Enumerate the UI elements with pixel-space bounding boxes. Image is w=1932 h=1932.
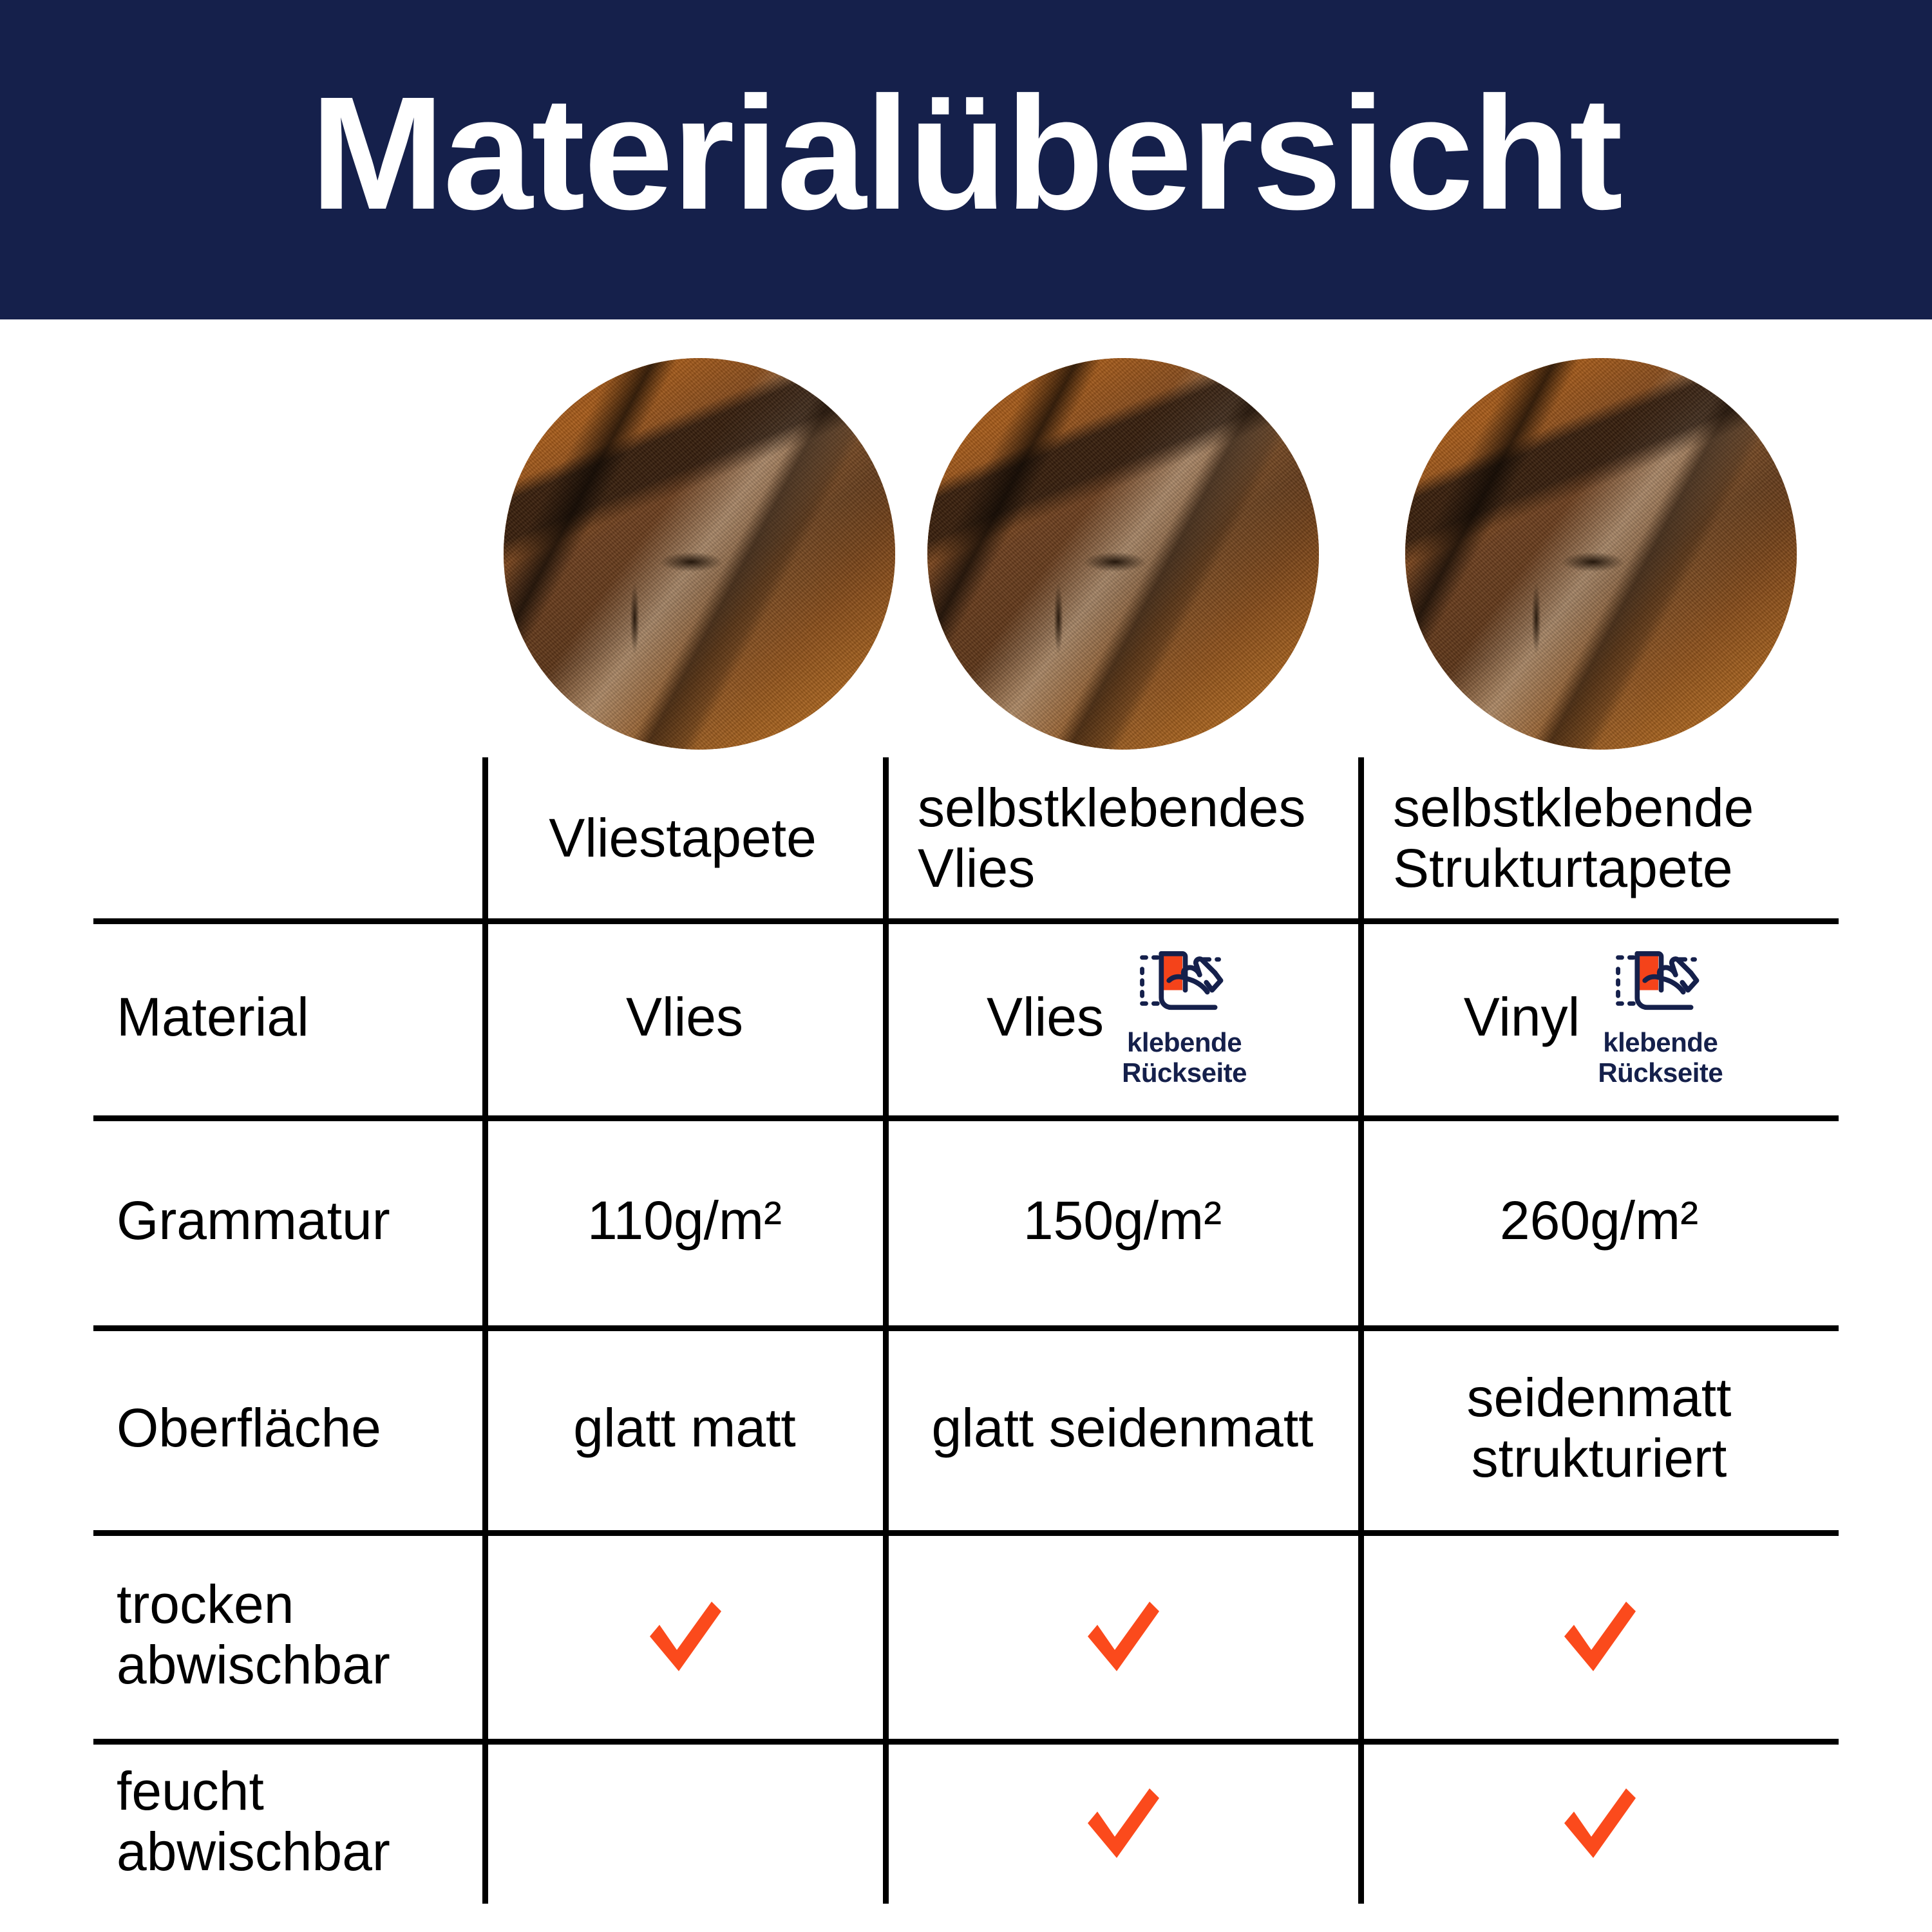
cell-feucht-selbstklebende-strukturtapete <box>1364 1739 1834 1904</box>
column-header-selbstklebendes-vlies: selbstklebendes Vlies <box>906 757 1362 918</box>
cell-oberflaeche-selbstklebende-strukturtapete: seidenmatt strukturiert <box>1364 1325 1834 1530</box>
rusty-metal-texture-icon <box>504 358 895 750</box>
adhesive-back-icon <box>1612 946 1709 1025</box>
material-comparison-table: Vliestapete selbstklebendes Vlies selbst… <box>93 757 1839 1904</box>
row-label-trocken-abwischbar: trocken abwischbar <box>93 1530 503 1739</box>
cell-oberflaeche-selbstklebendes-vlies: glatt seidenmatt <box>889 1325 1356 1530</box>
check-icon <box>1551 1586 1647 1683</box>
row-label-grammatur: Grammatur <box>93 1115 503 1325</box>
cell-oberflaeche-vliestapete: glatt matt <box>488 1325 881 1530</box>
cell-trocken-selbstklebende-strukturtapete <box>1364 1530 1834 1739</box>
cell-material-selbstklebende-strukturtapete: Vinyl <box>1464 986 1580 1048</box>
cell-grammatur-selbstklebende-strukturtapete: 260g/m² <box>1364 1115 1834 1325</box>
cell-grammatur-selbstklebendes-vlies: 150g/m² <box>889 1115 1356 1325</box>
cell-material-selbstklebendes-vlies: Vlies <box>987 986 1104 1048</box>
column-rule-2 <box>883 757 889 1904</box>
rusty-metal-texture-icon <box>1405 358 1797 750</box>
adhesive-back-icon <box>1136 946 1233 1025</box>
thumbnail-vliestapete[interactable] <box>504 358 895 750</box>
row-label-oberflaeche: Oberfläche <box>93 1325 503 1530</box>
adhesive-back-badge-text: klebende Rückseite <box>1122 1027 1247 1088</box>
adhesive-back-badge-text: klebende Rückseite <box>1598 1027 1723 1088</box>
cell-grammatur-vliestapete: 110g/m² <box>488 1115 881 1325</box>
check-icon <box>1551 1773 1647 1870</box>
page-title: Materialübersicht <box>310 73 1622 234</box>
check-icon <box>636 1586 733 1683</box>
cell-trocken-vliestapete <box>488 1530 881 1739</box>
rusty-metal-texture-icon <box>927 358 1319 750</box>
cell-feucht-vliestapete <box>488 1739 881 1904</box>
adhesive-back-badge: klebende Rückseite <box>1586 946 1734 1088</box>
check-icon <box>1074 1586 1171 1683</box>
header-band: Materialübersicht <box>0 0 1932 319</box>
material-overview-page: Materialübersicht Vliestapete selbstkleb… <box>0 0 1932 1932</box>
check-icon <box>1074 1773 1171 1870</box>
thumbnail-row <box>0 358 1932 757</box>
column-header-selbstklebende-strukturtapete: selbstklebende Strukturtapete <box>1381 757 1844 918</box>
cell-trocken-selbstklebendes-vlies <box>889 1530 1356 1739</box>
column-header-vliestapete: Vliestapete <box>506 757 860 918</box>
row-label-material: Material <box>93 918 503 1115</box>
adhesive-back-badge: klebende Rückseite <box>1110 946 1258 1088</box>
cell-material-vliestapete: Vlies <box>488 918 881 1115</box>
thumbnail-selbstklebendes-vlies[interactable] <box>927 358 1319 750</box>
thumbnail-selbstklebende-strukturtapete[interactable] <box>1405 358 1797 750</box>
column-rule-3 <box>1358 757 1364 1904</box>
row-label-feucht-abwischbar: feucht abwischbar <box>93 1739 503 1904</box>
cell-feucht-selbstklebendes-vlies <box>889 1739 1356 1904</box>
